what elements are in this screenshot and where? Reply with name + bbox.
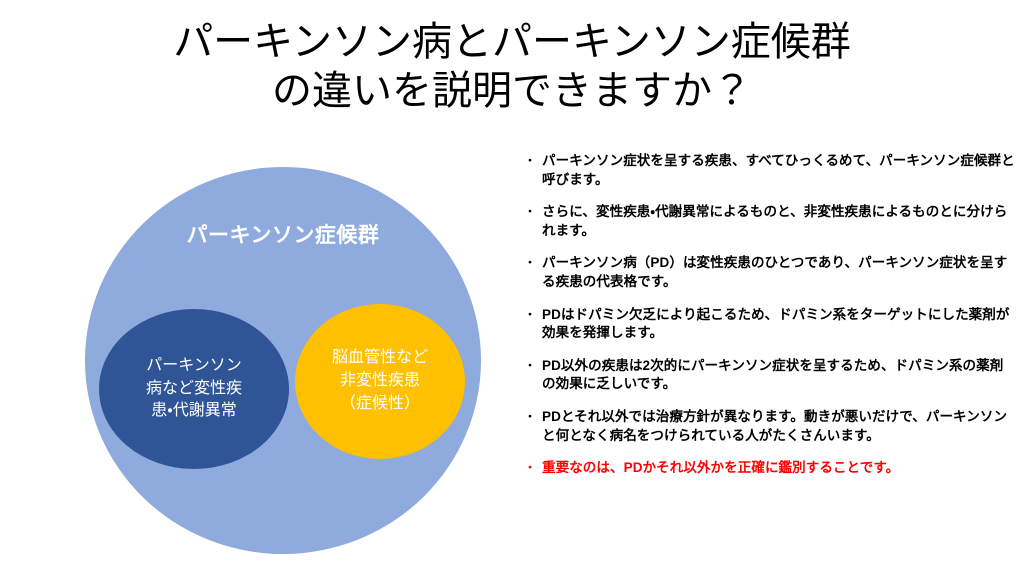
list-item-text: 重要なのは、PDかそれ以外かを正確に鑑別することです。 [542, 459, 1016, 478]
list-item: ・ さらに、変性疾患・代謝異常によるものと、非変性疾患によるものとに分けられます… [518, 203, 1016, 240]
bullet-marker-icon: ・ [518, 459, 542, 478]
list-item: ・ パーキンソン症状を呈する疾患、すべてひっくるめて、パーキンソン症候群と呼びま… [518, 152, 1016, 189]
list-item-text: PDはドパミン欠乏により起こるため、ドパミン系をターゲットにした薬剤が効果を発揮… [542, 306, 1016, 343]
list-item-text: PD以外の疾患は2次的にパーキンソン症状を呈するため、ドパミン系の薬剤の効果に乏… [542, 357, 1016, 394]
list-item: ・ パーキンソン病（PD）は変性疾患のひとつであり、パーキンソン症状を呈する疾患… [518, 254, 1016, 291]
bullet-marker-icon: ・ [518, 408, 542, 427]
inner-set-label-nondegenerative: 脳血管性など 非変性疾患 （症候性） [332, 347, 428, 415]
list-item: ・ PDとそれ以外では治療方針が異なります。動きが悪いだけで、パーキンソンと何と… [518, 408, 1016, 445]
venn-diagram: パーキンソン症候群 パーキンソン 病など変性疾 患・代謝異常 脳血管性など 非変… [85, 167, 481, 554]
outer-set-label: パーキンソン症候群 [85, 219, 481, 249]
inner-set-label-degenerative: パーキンソン 病など変性疾 患・代謝異常 [146, 355, 242, 423]
bullet-marker-icon: ・ [518, 357, 542, 376]
page-title: パーキンソン病とパーキンソン症候群 の違いを説明できますか？ [60, 18, 964, 116]
bullet-list: ・ パーキンソン症状を呈する疾患、すべてひっくるめて、パーキンソン症候群と呼びま… [518, 152, 1016, 478]
list-item: ・ PDはドパミン欠乏により起こるため、ドパミン系をターゲットにした薬剤が効果を… [518, 306, 1016, 343]
list-item-text: PDとそれ以外では治療方針が異なります。動きが悪いだけで、パーキンソンと何となく… [542, 408, 1016, 445]
bullet-marker-icon: ・ [518, 254, 542, 273]
list-item-text: パーキンソン病（PD）は変性疾患のひとつであり、パーキンソン症状を呈する疾患の代… [542, 254, 1016, 291]
bullet-marker-icon: ・ [518, 203, 542, 222]
list-item: ・ PD以外の疾患は2次的にパーキンソン症状を呈するため、ドパミン系の薬剤の効果… [518, 357, 1016, 394]
inner-set-circle-nondegenerative: 脳血管性など 非変性疾患 （症候性） [295, 304, 465, 459]
list-item-highlighted: ・ 重要なのは、PDかそれ以外かを正確に鑑別することです。 [518, 459, 1016, 478]
list-item-text: さらに、変性疾患・代謝異常によるものと、非変性疾患によるものとに分けられます。 [542, 203, 1016, 240]
bullet-marker-icon: ・ [518, 306, 542, 325]
inner-set-circle-degenerative: パーキンソン 病など変性疾 患・代謝異常 [99, 309, 289, 469]
bullet-marker-icon: ・ [518, 152, 542, 171]
slide-canvas: パーキンソン病とパーキンソン症候群 の違いを説明できますか？ パーキンソン症候群… [0, 0, 1024, 576]
list-item-text: パーキンソン症状を呈する疾患、すべてひっくるめて、パーキンソン症候群と呼びます。 [542, 152, 1016, 189]
